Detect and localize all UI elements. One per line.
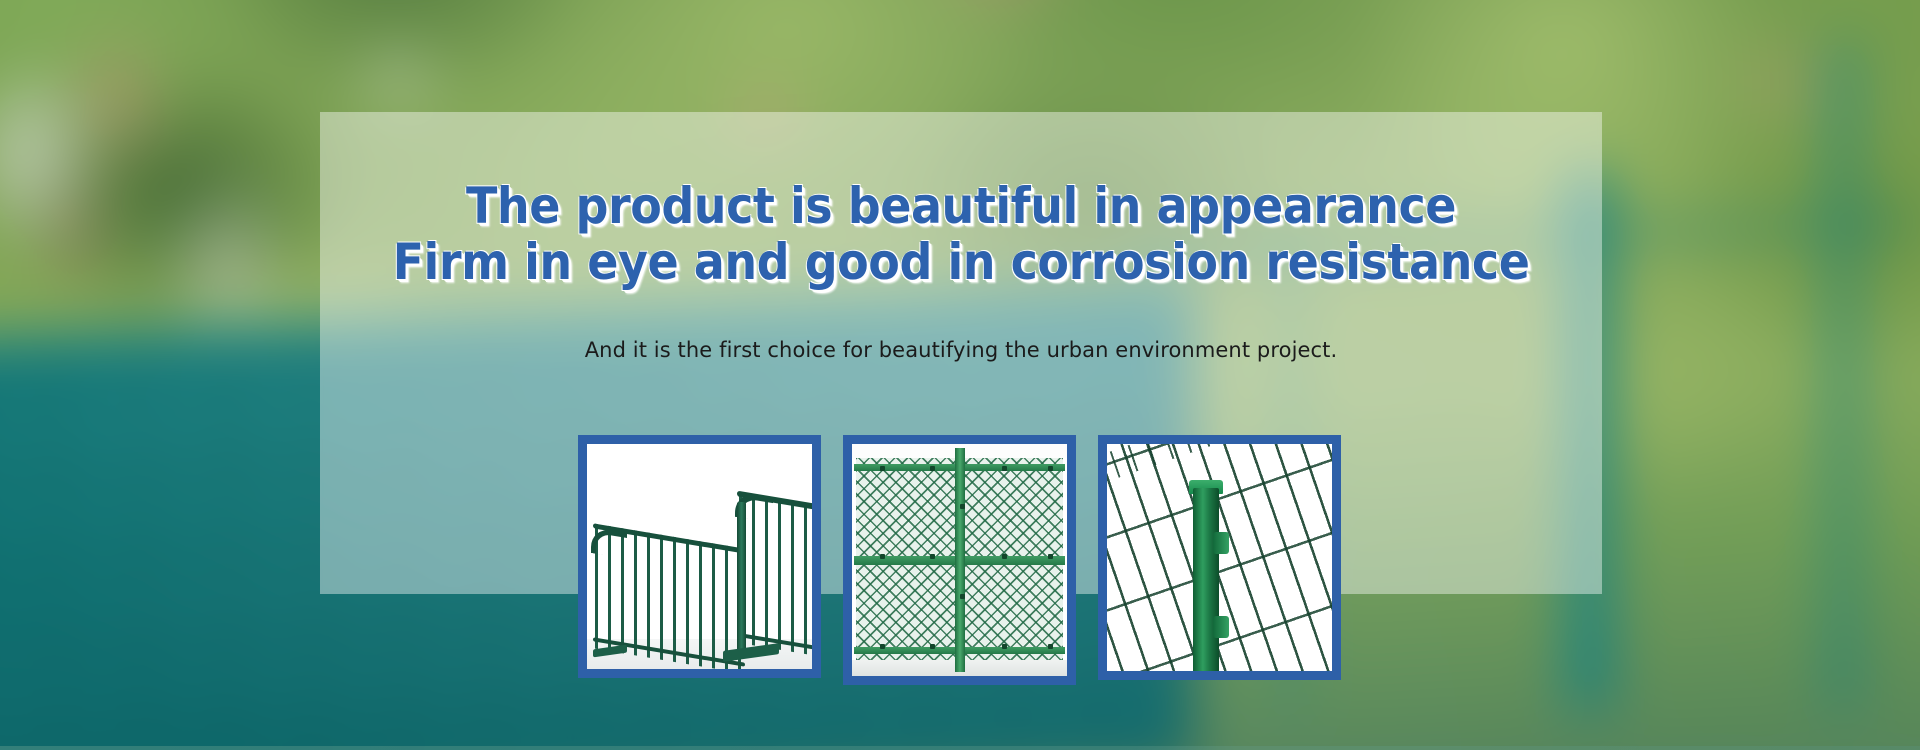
mesh-clip (960, 594, 965, 599)
product-thumbnail-welded-wire-mesh-fence[interactable] (1098, 435, 1341, 680)
mesh-clip (930, 644, 935, 649)
barrier-center-post (737, 502, 746, 652)
headline-line-1: The product is beautiful in appearance (371, 178, 1550, 234)
crowd-control-barrier-image (587, 444, 812, 669)
mesh-clip (930, 466, 935, 471)
chain-link-mesh-image (852, 444, 1067, 676)
mesh-clip (880, 644, 885, 649)
bottom-divider (0, 746, 1920, 750)
product-thumbnail-chain-link-mesh-panel[interactable] (843, 435, 1076, 685)
mesh-center-post (955, 448, 965, 672)
mesh-clip (880, 554, 885, 559)
mesh-clip (1002, 554, 1007, 559)
fence-post-clamp-lower (1213, 616, 1229, 638)
product-thumbnail-crowd-control-barrier[interactable] (578, 435, 821, 678)
mesh-clip (1002, 644, 1007, 649)
mesh-clip (960, 504, 965, 509)
hero-banner: The product is beautiful in appearance F… (0, 0, 1920, 750)
mesh-clip (1048, 554, 1053, 559)
mesh-clip (1048, 644, 1053, 649)
fence-square-post (1193, 488, 1219, 671)
mesh-clip (1048, 466, 1053, 471)
page-title: The product is beautiful in appearance F… (371, 178, 1550, 290)
mesh-clip (1002, 466, 1007, 471)
fence-post-clamp-upper (1213, 532, 1229, 554)
subtitle-text: And it is the first choice for beautifyi… (320, 338, 1602, 362)
welded-wire-mesh-image (1107, 444, 1332, 671)
product-thumbnail-row (578, 435, 1341, 685)
mesh-clip (880, 466, 885, 471)
headline-line-2: Firm in eye and good in corrosion resist… (371, 234, 1550, 290)
mesh-clip (930, 554, 935, 559)
